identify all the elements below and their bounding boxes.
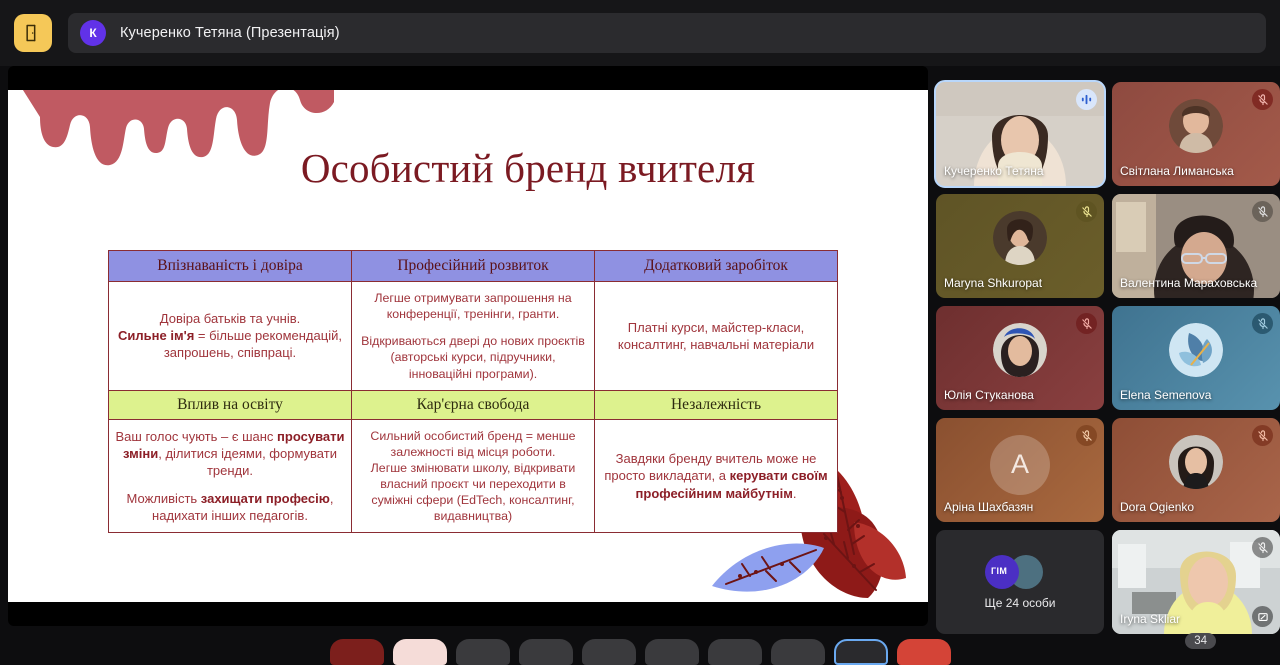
mic-muted-badge [1252,201,1273,222]
table-header-row-1: Впізнаваність і довіра Професійний розви… [109,251,838,282]
cell-text: Легше отримувати запрошення на конференц… [374,291,571,321]
presentation-slide: Особистий бренд вчителя [8,90,928,602]
more-options-button[interactable] [771,639,825,665]
table-header-row-2: Вплив на освіту Кар'єрна свобода Незалеж… [109,390,838,419]
avatar [1169,323,1223,377]
participant-name: Валентина Мараховська [1120,276,1257,290]
reactions-button[interactable] [582,639,636,665]
avatar-initial: A [990,435,1050,495]
exit-meeting-button[interactable] [14,14,52,52]
cell-text: Можливість [127,491,201,506]
cell-text: Відкриваються двері до нових проєктів (а… [361,334,585,380]
participant-row: Юлія Стуканова Elena Semenova [936,306,1280,410]
mic-muted-icon [1257,206,1269,218]
expand-icon [1257,611,1269,623]
avatar [1169,99,1223,153]
cell-bold: захищати професію [201,491,330,506]
participant-tile[interactable]: Кучеренко Тетяна [936,82,1104,186]
participant-tile[interactable]: Світлана Лиманська [1112,82,1280,186]
organization-logo-icon: ГІМ [985,555,1055,589]
chat-button[interactable] [645,639,699,665]
mic-muted-icon [1081,206,1093,218]
participant-row: A Аріна Шахбазян [936,418,1280,522]
meeting-controls-bar [0,639,1280,657]
table-cell: Завдяки бренду вчитель може не просто ви… [595,419,838,533]
mic-muted-badge [1252,425,1273,446]
cell-bold: Сильне ім'я [118,328,194,343]
table-row: Довіра батьків та учнів. Сильне ім'я = б… [109,282,838,391]
cell-text: Ваш голос чують – є шанс [116,429,278,444]
participant-name: Maryna Shkuropat [944,276,1042,290]
participant-tile[interactable]: Maryna Shkuropat [936,194,1104,298]
table-header-cell: Вплив на освіту [109,390,352,419]
table-header-cell: Незалежність [595,390,838,419]
participant-row: Maryna Shkuropat Валентина Мараховська [936,194,1280,298]
avatar-image [1169,323,1223,377]
avatar [1169,435,1223,489]
participant-name: Аріна Шахбазян [944,500,1033,514]
mic-muted-icon [1257,430,1269,442]
avatar [993,211,1047,265]
participant-tile[interactable]: Валентина Мараховська [1112,194,1280,298]
cell-text: Платні курси, майстер-класи, консалтинг,… [618,320,814,352]
presenter-pill[interactable]: К Кучеренко Тетяна (Презентація) [68,13,1266,53]
more-participants-tile[interactable]: ГІМ Ще 24 особи [936,530,1104,634]
audio-wave-icon [1080,93,1093,106]
logo-text: ГІМ [991,566,1007,576]
benefits-table: Впізнаваність і довіра Професійний розви… [108,250,838,533]
avatar-image [1169,435,1223,489]
participant-name: Світлана Лиманська [1120,164,1234,178]
microphone-button[interactable] [393,639,447,665]
avatar-image [993,211,1047,265]
avatar-image [1169,99,1223,153]
raise-hand-button[interactable] [834,639,888,665]
leave-call-button[interactable] [897,639,951,665]
participant-name: Кучеренко Тетяна [944,164,1044,178]
table-cell: Легше отримувати запрошення на конференц… [352,282,595,391]
avatar [993,323,1047,377]
table-cell: Платні курси, майстер-класи, консалтинг,… [595,282,838,391]
participant-name: Elena Semenova [1120,388,1211,402]
cell-text: Довіра батьків та учнів. [160,311,300,326]
table-header-cell: Професійний розвиток [352,251,595,282]
table-header-cell: Впізнаваність і довіра [109,251,352,282]
expand-tile-button[interactable] [1252,606,1273,627]
mic-muted-badge [1252,313,1273,334]
participant-name: Dora Ogienko [1120,500,1194,514]
camera-button[interactable] [456,639,510,665]
participant-name: Iryna Skliar [1120,612,1180,626]
table-cell: Довіра батьків та учнів. Сильне ім'я = б… [109,282,352,391]
avatar-image [993,323,1047,377]
mic-muted-badge [1252,537,1273,558]
mic-muted-icon [1081,318,1093,330]
table-cell: Ваш голос чують – є шанс просувати зміни… [109,419,352,533]
cell-text: , ділитися ідеями, формувати тренди. [158,446,337,478]
participant-row: Кучеренко Тетяна Світлана Лиманська [936,82,1280,186]
mic-muted-icon [1257,318,1269,330]
slide-title: Особистий бренд вчителя [8,144,928,192]
mic-muted-badge [1076,201,1097,222]
table-cell: Сильний особистий бренд = менше залежнос… [352,419,595,533]
participant-tile[interactable]: A Аріна Шахбазян [936,418,1104,522]
share-screen-button[interactable] [519,639,573,665]
participant-rail: Кучеренко Тетяна Світлана Лиманська [936,82,1280,642]
table-header-cell: Кар'єрна свобода [352,390,595,419]
presenter-name: Кучеренко Тетяна (Презентація) [120,25,340,41]
mic-muted-badge [1076,425,1097,446]
cell-text: Сильний особистий бренд = менше залежнос… [370,429,575,459]
participant-row: ГІМ Ще 24 особи [936,530,1280,634]
participant-tile[interactable]: Dora Ogienko [1112,418,1280,522]
shared-screen-stage[interactable]: Особистий бренд вчителя [8,66,928,626]
participant-tile[interactable]: Юлія Стуканова [936,306,1104,410]
cell-text: Легше змінювати школу, відкривати власни… [371,461,576,523]
speaking-indicator [1076,89,1097,110]
presenter-avatar: К [80,20,106,46]
participant-tile[interactable]: Iryna Skliar [1112,530,1280,634]
mic-muted-icon [1257,542,1269,554]
mic-muted-badge [1252,89,1273,110]
mic-muted-icon [1257,94,1269,106]
more-participants-label: Ще 24 особи [985,596,1056,610]
participant-tile[interactable]: Elena Semenova [1112,306,1280,410]
participants-button[interactable] [708,639,762,665]
mic-muted-badge [1076,313,1097,334]
participant-name: Юлія Стуканова [944,388,1034,402]
top-bar: К Кучеренко Тетяна (Презентація) [0,0,1280,66]
table-row: Ваш голос чують – є шанс просувати зміни… [109,419,838,533]
record-button[interactable] [330,639,384,665]
cell-text: . [793,486,797,501]
mic-muted-icon [1081,430,1093,442]
exit-door-icon [23,23,43,43]
table-header-cell: Додатковий заробіток [595,251,838,282]
